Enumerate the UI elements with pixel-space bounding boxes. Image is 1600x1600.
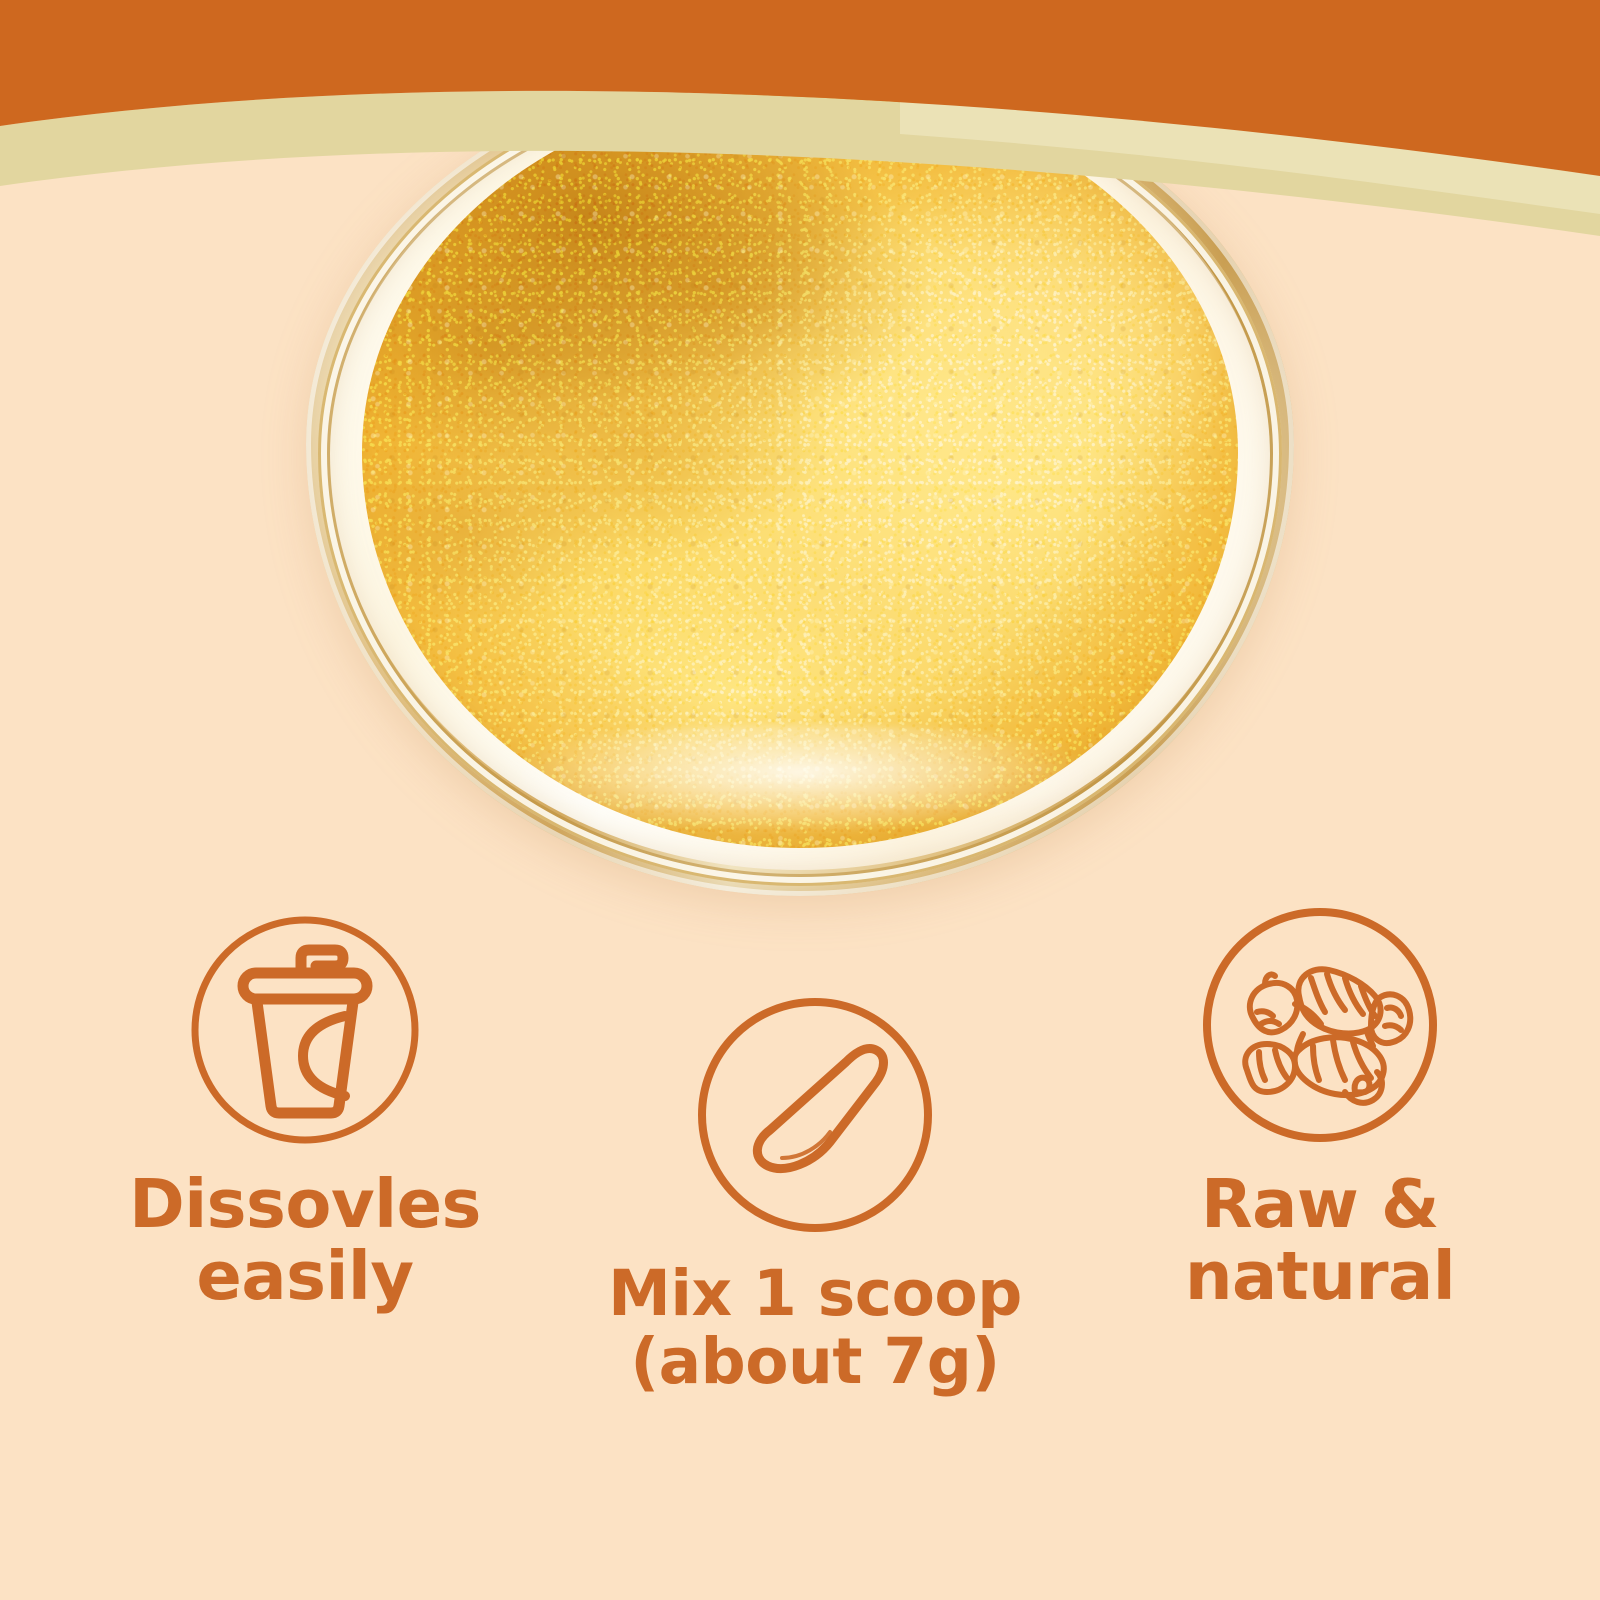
ginger-root-icon [1195, 900, 1445, 1150]
top-banner [0, 0, 1600, 260]
spoon-icon [690, 990, 940, 1240]
product-infographic: Dissovles easily Mix 1 scoop (about 7g) [0, 0, 1600, 1600]
feature-mix-one-scoop: Mix 1 scoop (about 7g) [565, 990, 1065, 1396]
feature-dissolves-easily: Dissovles easily [60, 910, 550, 1313]
feature-label: Dissovles easily [60, 1168, 550, 1313]
feature-label: Raw & natural [1080, 1168, 1560, 1313]
feature-row: Dissovles easily Mix 1 scoop (about 7g) [0, 900, 1600, 1520]
feature-raw-and-natural: Raw & natural [1080, 900, 1560, 1313]
to-go-cup-with-straw-icon [185, 910, 425, 1150]
feature-label: Mix 1 scoop (about 7g) [565, 1260, 1065, 1396]
